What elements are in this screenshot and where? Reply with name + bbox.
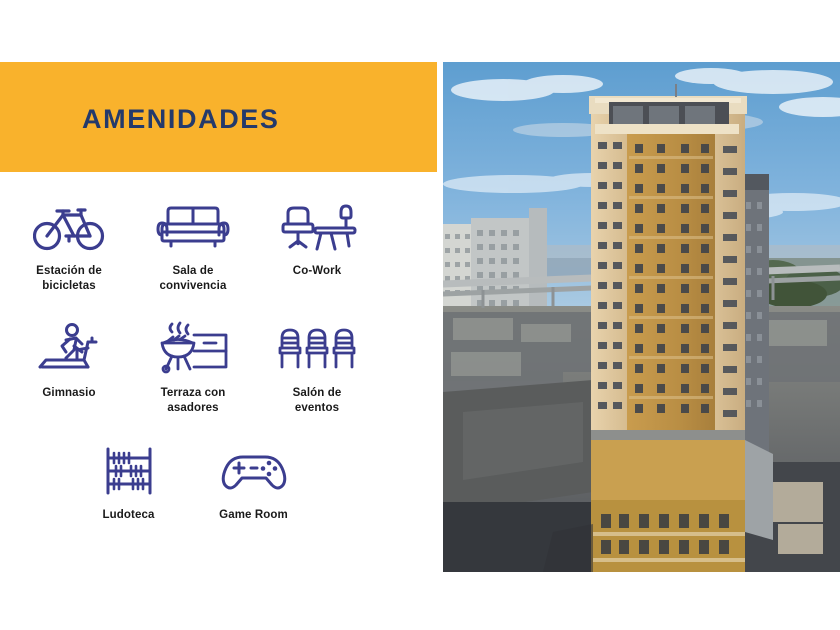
amenity-item-bicycle[interactable]: Estación de bicicletas (7, 196, 131, 318)
amenity-label: Game Room (219, 508, 288, 523)
left-content-panel: AMENIDADES (0, 0, 443, 630)
treadmill-icon (32, 318, 106, 380)
amenity-row: Ludoteca (66, 440, 316, 540)
amenity-label: Co-Work (293, 264, 341, 279)
amenity-label: Terraza con asadores (161, 386, 226, 415)
gamepad-icon (219, 440, 289, 502)
amenity-row: Gimnasio (7, 318, 380, 440)
amenities-slide: AMENIDADES (0, 0, 840, 630)
amenity-item-terrace-grill[interactable]: Terraza con asadores (131, 318, 255, 440)
desk-chair-icon (277, 196, 357, 258)
amenity-label: Salón de eventos (293, 386, 342, 415)
bicycle-icon (33, 196, 105, 258)
amenities-grid: Estación de bicicletas (0, 196, 443, 540)
sofa-icon (154, 196, 232, 258)
amenity-row: Estación de bicicletas (7, 196, 380, 318)
amenity-item-event-hall[interactable]: Salón de eventos (255, 318, 379, 440)
amenity-label: Ludoteca (103, 508, 155, 523)
abacus-icon (100, 440, 158, 502)
banquet-chairs-icon (278, 318, 356, 380)
grill-icon (154, 318, 232, 380)
amenity-label: Sala de convivencia (160, 264, 227, 293)
amenity-label: Gimnasio (42, 386, 95, 401)
amenity-item-playroom[interactable]: Ludoteca (66, 440, 191, 540)
amenity-item-living-room[interactable]: Sala de convivencia (131, 196, 255, 318)
building-photo (443, 62, 840, 572)
amenity-item-game-room[interactable]: Game Room (191, 440, 316, 540)
amenity-item-cowork[interactable]: Co-Work (255, 196, 379, 318)
amenity-label: Estación de bicicletas (36, 264, 102, 293)
building-photo-illustration (443, 62, 840, 572)
page-title: AMENIDADES (82, 106, 280, 133)
amenity-item-gym[interactable]: Gimnasio (7, 318, 131, 440)
